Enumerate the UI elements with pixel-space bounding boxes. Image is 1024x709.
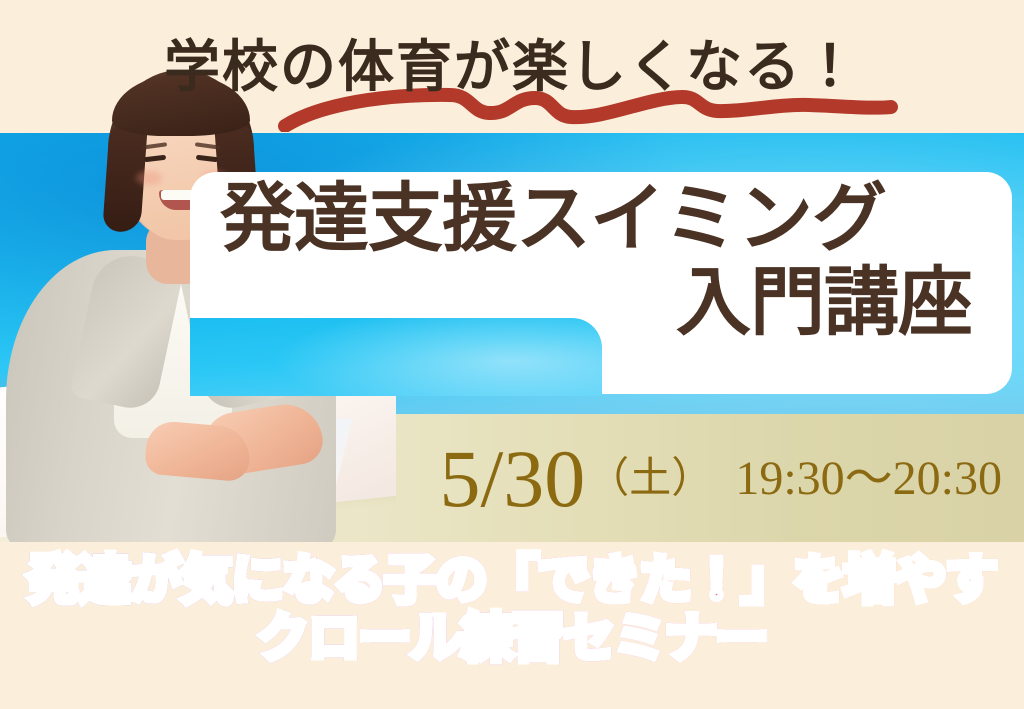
- catch-copy-line-2: クロール練習セミナー: [0, 610, 1024, 668]
- cheek-left: [136, 171, 162, 185]
- catch-copy-line-1: 発達が気になる子の「できた！」を増やす: [0, 552, 1024, 610]
- schedule-time: 19:30〜20:30: [735, 455, 1002, 503]
- catch-copy-group: 発達が気になる子の「できた！」を増やす クロール練習セミナー: [0, 552, 1024, 668]
- title-text-group: 発達支援スイミング 入門講座: [206, 176, 1006, 344]
- schedule-date: 5/30: [440, 438, 586, 520]
- title-line-2: 入門講座: [206, 260, 1006, 344]
- poster-root: 学校の体育が楽しくなる！ 発達支援スイミング 入門講座 5/30 （土） 19:…: [0, 0, 1024, 709]
- schedule-day-of-week: （土）: [587, 458, 713, 500]
- schedule-row: 5/30 （土） 19:30〜20:30: [0, 424, 1024, 534]
- title-line-1: 発達支援スイミング: [206, 176, 1006, 260]
- headline-text: 学校の体育が楽しくなる！: [0, 22, 1024, 103]
